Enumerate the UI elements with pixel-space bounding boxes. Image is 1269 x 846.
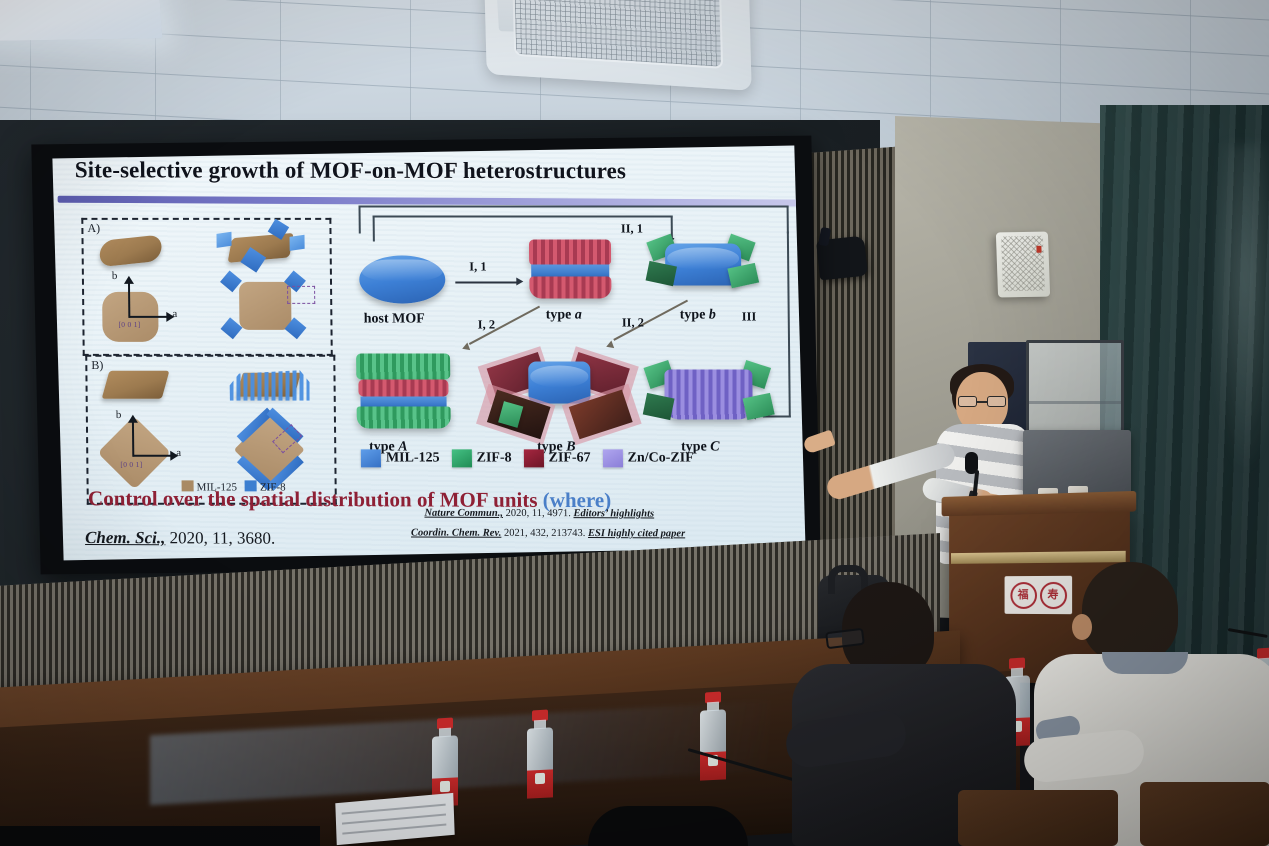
mil125-plan-diamond <box>97 416 171 490</box>
ac-grille <box>512 0 723 69</box>
panel-a-label: A) <box>87 221 100 236</box>
legend-item-zif67: ZIF-67 <box>524 449 591 467</box>
panel-b-label: B) <box>91 358 103 373</box>
bottle-label <box>527 769 553 798</box>
axis-arrow-b <box>128 415 138 423</box>
speaker-led-icon <box>1036 246 1041 253</box>
axis-label-b: b <box>112 270 118 282</box>
type-C-rods <box>664 370 753 420</box>
mil125-plan-diamond-edged <box>234 414 305 485</box>
type-A-rods-bottom <box>357 406 451 428</box>
step-label-ii1: II, 1 <box>621 222 643 237</box>
node-label-type-a: type a <box>546 308 582 324</box>
paper-line <box>342 804 446 815</box>
legend-swatch-zif67 <box>524 449 544 467</box>
arrow-i1-head <box>516 278 523 286</box>
wall-speaker-icon <box>996 232 1050 298</box>
curtain-highlight <box>1210 145 1269 475</box>
step-label-ii2: II, 2 <box>622 316 644 331</box>
ceiling-light-panel <box>0 0 162 41</box>
type-a-rods-top <box>529 240 611 266</box>
step-label-i1: I, 1 <box>469 260 487 275</box>
projection-screen: Site-selective growth of MOF-on-MOF hete… <box>31 136 820 575</box>
type-b-wedge <box>727 263 759 288</box>
axis-arrow-b <box>124 276 134 284</box>
mil125-cube-3d <box>102 371 170 399</box>
panel-a: A) b a [0 0 1] <box>81 218 332 356</box>
citation-rest: 2020, 11, 3680. <box>165 528 275 547</box>
bottle-body <box>432 735 458 796</box>
zif8-cube <box>290 235 305 251</box>
chair-backrest <box>1140 782 1269 846</box>
foreground-silhouette <box>588 806 748 846</box>
paper-line <box>342 814 446 825</box>
camera-mount-icon <box>816 236 868 281</box>
citation-nature-commun: Nature Commun., 2020, 11, 4971. Editors’… <box>424 508 654 520</box>
mil125-plan-with-zif <box>239 282 292 330</box>
direction-index-label: [0 0 1] <box>120 460 142 469</box>
step-label-i2: I, 2 <box>478 318 496 333</box>
legend-label-zncozif: Zn/Co-ZIF <box>628 450 694 466</box>
foreground-silhouette <box>0 826 320 846</box>
citation-chem-sci: Chem. Sci., 2020, 11, 3680. <box>85 528 275 549</box>
node-label-host-mof: host MOF <box>364 312 425 328</box>
node-label-type-b: type b <box>680 308 716 324</box>
zif8-edge-beads <box>229 367 309 401</box>
axis-line-a <box>129 316 167 318</box>
citation-journal: Nature Commun., <box>424 508 503 519</box>
audience-head <box>1082 562 1178 662</box>
conference-room-scene: Site-selective growth of MOF-on-MOF hete… <box>0 0 1269 846</box>
type-A-rods-top <box>356 354 450 380</box>
axis-label-a: a <box>176 447 181 459</box>
axis-line-a <box>133 455 171 457</box>
host-mof-shape <box>359 256 446 304</box>
slide-content: Site-selective growth of MOF-on-MOF hete… <box>52 146 805 561</box>
water-bottle <box>527 709 553 788</box>
step-label-iii: III <box>742 310 757 325</box>
zoom-callout-dashed <box>287 286 315 304</box>
citation-tag: Editors’ highlights <box>573 508 654 519</box>
legend-label-zif67: ZIF-67 <box>549 450 591 466</box>
node-text-italic: a <box>575 308 582 323</box>
paper-line <box>342 824 446 835</box>
type-C-wedge-dark <box>643 393 675 420</box>
speaker-mesh <box>1001 236 1045 292</box>
legend-swatch-mil125 <box>361 449 381 467</box>
type-A-rods-middle <box>358 379 448 396</box>
node-text-italic: b <box>709 308 716 323</box>
legend-swatch-zncozif <box>603 449 623 467</box>
bottle-body <box>700 709 726 770</box>
node-text: type <box>680 308 709 323</box>
audience-ear <box>1072 614 1092 640</box>
axis-label-b: b <box>116 409 122 421</box>
citation-rest: 2021, 432, 213743. <box>501 528 588 539</box>
type-a-rods-bottom <box>529 277 611 299</box>
node-text: host MOF <box>364 312 425 327</box>
citation-tag: ESI highly cited paper <box>588 528 685 539</box>
node-text: type <box>546 308 575 323</box>
citation-journal: Chem. Sci., <box>85 528 165 547</box>
legend-item-zncozif: Zn/Co-ZIF <box>603 449 694 467</box>
mil125-slab-3d <box>99 234 162 267</box>
legend-swatch-zif8 <box>452 449 472 467</box>
direction-index-label: [0 0 1] <box>118 320 140 329</box>
glasses-icon <box>958 396 1006 407</box>
water-bottle <box>432 717 458 796</box>
slide-title: Site-selective growth of MOF-on-MOF hete… <box>75 157 788 184</box>
chair-backrest <box>958 790 1118 846</box>
citation-coordin-chem-rev: Coordin. Chem. Rev. 2021, 432, 213743. E… <box>411 527 685 539</box>
legend-item-mil125: MIL-125 <box>361 449 440 467</box>
route-right-to-typec <box>761 232 791 418</box>
legend-item-zif8: ZIF-8 <box>452 449 512 467</box>
arrow-i1 <box>455 282 517 284</box>
axis-line-b <box>128 282 130 318</box>
zif8-cube <box>216 232 231 248</box>
material-legend: MIL-125 ZIF-8 ZIF-67 Zn/Co-ZIF <box>361 449 801 467</box>
citation-rest: 2020, 11, 4971. <box>503 508 574 519</box>
audience-collar <box>1102 652 1188 674</box>
legend-label-mil125: MIL-125 <box>386 450 440 466</box>
bottle-body <box>527 727 553 788</box>
type-B-core <box>528 362 590 404</box>
legend-label-zif8: ZIF-8 <box>477 450 512 466</box>
citation-journal: Coordin. Chem. Rev. <box>411 527 501 538</box>
arrow-ii2-head <box>605 341 614 351</box>
axis-label-a: a <box>172 308 177 320</box>
